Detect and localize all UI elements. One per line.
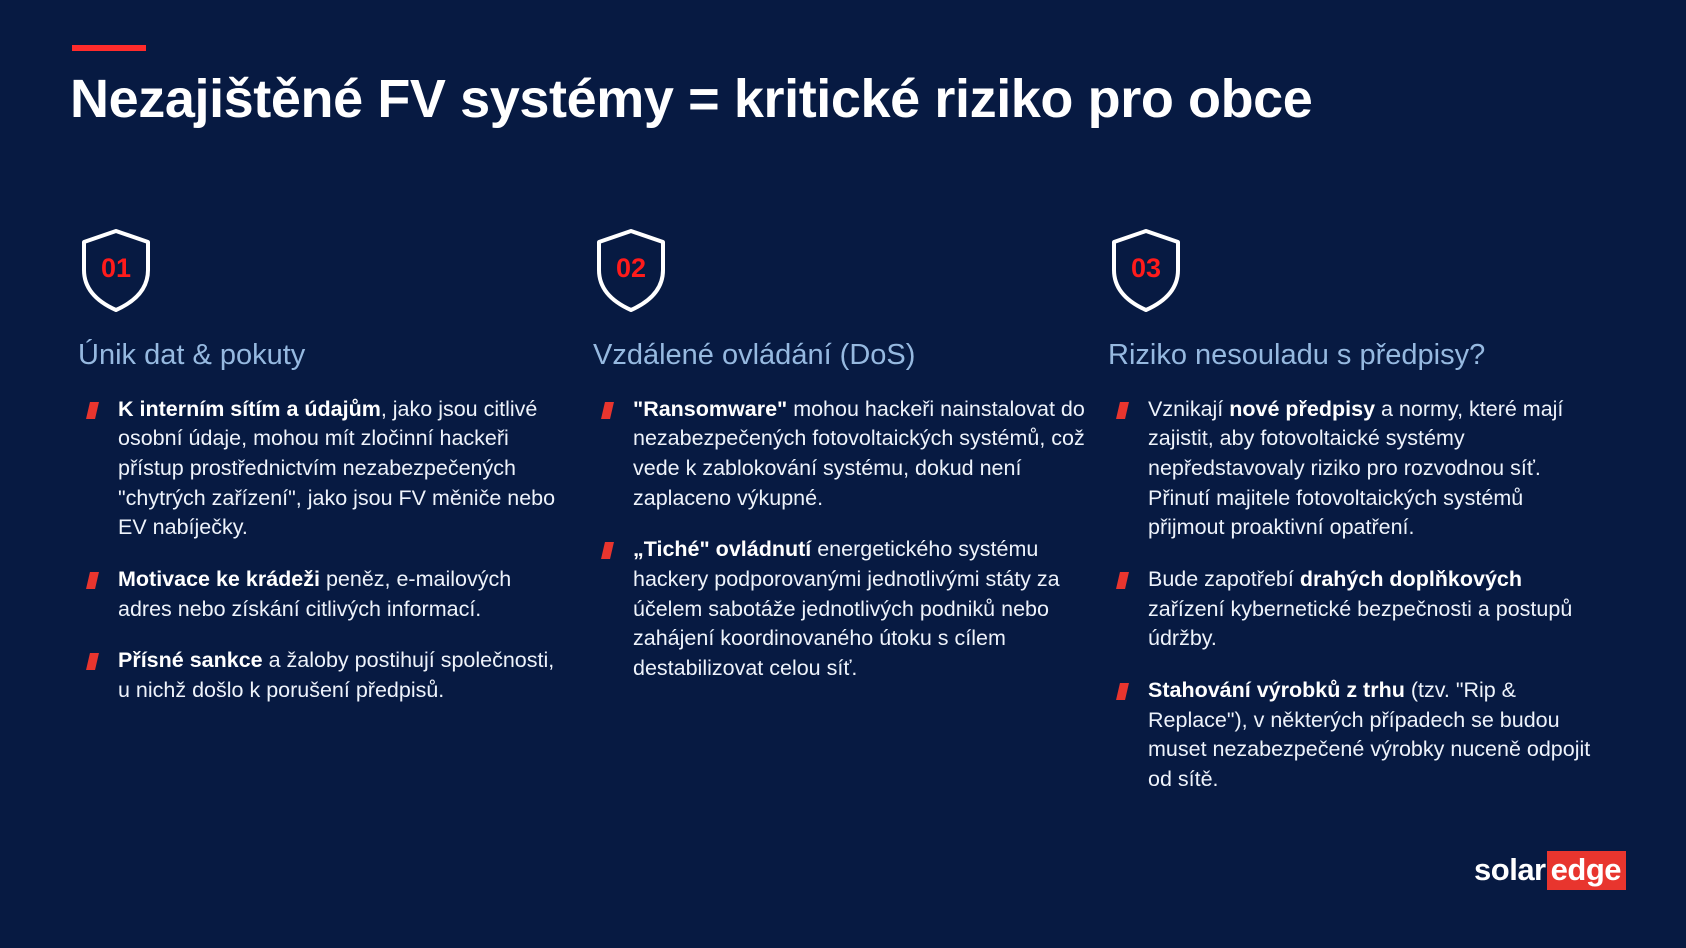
bullet-lead: Přísné sankce xyxy=(118,648,263,672)
bullet-marker-icon xyxy=(1116,402,1129,419)
title-accent-rule xyxy=(72,45,146,51)
bullet-marker-icon xyxy=(86,572,99,589)
column-heading-1: Únik dat & pokuty xyxy=(78,338,570,373)
shield-number-1: 01 xyxy=(78,228,154,308)
bullet-marker-icon xyxy=(1116,683,1129,700)
shield-number-2: 02 xyxy=(593,228,669,308)
solaredge-logo: solaredge xyxy=(1474,851,1626,890)
column-3: 03 Riziko nesouladu s předpisy? Vznikají… xyxy=(1100,228,1600,795)
slide-root: Nezajištěné FV systémy = kritické riziko… xyxy=(0,0,1686,948)
bullet-list-2: "Ransomware" mohou hackeři nainstalovat … xyxy=(585,395,1085,684)
bullet-lead: „Tiché" ovládnutí xyxy=(633,537,811,561)
logo-text-edge: edge xyxy=(1547,851,1626,890)
list-item: Motivace ke krádeži peněz, e-mailových a… xyxy=(70,565,570,624)
logo-text-solar: solar xyxy=(1474,852,1546,888)
bullet-marker-icon xyxy=(601,542,614,559)
list-item: Vznikají nové předpisy a normy, které ma… xyxy=(1100,395,1600,543)
bullet-marker-icon xyxy=(86,653,99,670)
bullet-marker-icon xyxy=(86,402,99,419)
bullet-lead: Stahování výrobků z trhu xyxy=(1148,678,1405,702)
bullet-lead: "Ransomware" xyxy=(633,397,787,421)
column-2: 02 Vzdálené ovládání (DoS) "Ransomware" … xyxy=(585,228,1085,795)
column-heading-2: Vzdálené ovládání (DoS) xyxy=(593,338,1085,373)
columns-container: 01 Únik dat & pokuty K interním sítím a … xyxy=(70,228,1616,795)
bullet-marker-icon xyxy=(601,402,614,419)
list-item: "Ransomware" mohou hackeři nainstalovat … xyxy=(585,395,1085,514)
list-item: „Tiché" ovládnutí energetického systému … xyxy=(585,535,1085,683)
bullet-pretext: Bude zapotřebí xyxy=(1148,567,1300,591)
shield-badge-1: 01 xyxy=(78,228,154,316)
column-heading-3: Riziko nesouladu s předpisy? xyxy=(1108,338,1600,373)
bullet-list-1: K interním sítím a údajům, jako jsou cit… xyxy=(70,395,570,706)
column-1: 01 Únik dat & pokuty K interním sítím a … xyxy=(70,228,570,795)
bullet-lead: drahých doplňkových xyxy=(1300,567,1522,591)
shield-badge-3: 03 xyxy=(1108,228,1184,316)
bullet-pretext: Vznikají xyxy=(1148,397,1229,421)
list-item: K interním sítím a údajům, jako jsou cit… xyxy=(70,395,570,543)
list-item: Stahování výrobků z trhu (tzv. "Rip & Re… xyxy=(1100,676,1600,795)
bullet-marker-icon xyxy=(1116,572,1129,589)
bullet-text: zařízení kybernetické bezpečnosti a post… xyxy=(1148,597,1572,651)
list-item: Bude zapotřebí drahých doplňkových zaříz… xyxy=(1100,565,1600,654)
page-title: Nezajištěné FV systémy = kritické riziko… xyxy=(70,68,1630,132)
bullet-lead: Motivace ke krádeži xyxy=(118,567,320,591)
bullet-lead: K interním sítím a údajům xyxy=(118,397,381,421)
list-item: Přísné sankce a žaloby postihují společn… xyxy=(70,646,570,705)
bullet-lead: nové předpisy xyxy=(1229,397,1375,421)
shield-number-3: 03 xyxy=(1108,228,1184,308)
shield-badge-2: 02 xyxy=(593,228,669,316)
bullet-list-3: Vznikají nové předpisy a normy, které ma… xyxy=(1100,395,1600,795)
